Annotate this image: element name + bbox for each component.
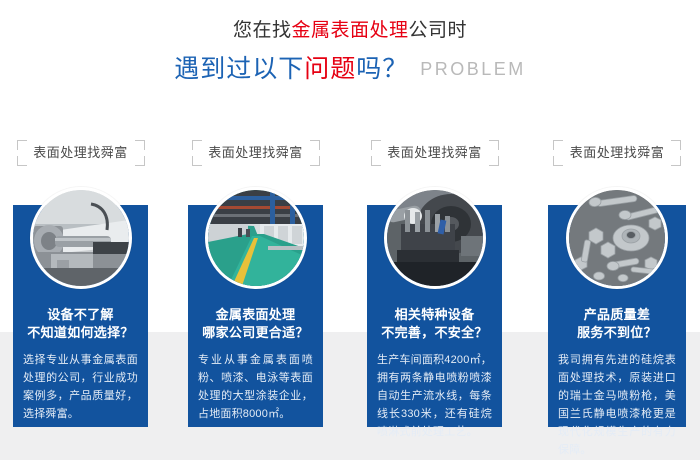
card-tag: 表面处理找舜富 xyxy=(191,137,321,169)
headline2-highlight: 问题 xyxy=(304,55,356,83)
card-photo xyxy=(384,187,486,289)
card-tag: 表面处理找舜富 xyxy=(370,137,500,169)
card-body: 生产车间面积4200㎡，拥有两条静电喷粉喷漆自动生产流水线，每条线长330米，还… xyxy=(377,351,492,441)
lathe-machining-photo xyxy=(33,190,129,286)
problem-cards: 表面处理找舜富 设备不了解 不知道如何选择？ 选择专业从事金属表面处理的公司，行… xyxy=(0,137,700,437)
problem-card[interactable]: 表面处理找舜富 设备不了解 不知道如何选择？ 选择专业从事金属表面处理的公司，行… xyxy=(13,137,148,437)
card-title-line2: 不知道如何选择？ xyxy=(17,324,144,342)
card-body: 选择专业从事金属表面处理的公司，行业成功案例多，产品质量好，选择舜富。 xyxy=(23,351,138,423)
section-header: 您在找金属表面处理公司时 遇到过以下问题吗？PROBLEM xyxy=(0,18,700,86)
card-tag-label: 表面处理找舜富 xyxy=(552,137,682,169)
headline-secondary: 遇到过以下问题吗？PROBLEM xyxy=(0,53,700,86)
headline2-part1: 遇到过以下 xyxy=(174,55,304,83)
problem-card[interactable]: 表面处理找舜富 相关特种设备 不完善，不安全？ 生产车间面积4200㎡，拥有两条… xyxy=(367,137,502,437)
problem-card[interactable]: 表面处理找舜富 产品质量差 服务不到位？ 我司拥有先进的硅烷表面处理技术，原装进… xyxy=(548,137,686,437)
card-body: 我司拥有先进的硅烷表面处理技术，原装进口的瑞士金马喷粉枪，美国兰氏静电喷漆枪更是… xyxy=(558,351,676,459)
card-title-line2: 不完善，不安全？ xyxy=(371,324,498,342)
card-tag: 表面处理找舜富 xyxy=(552,137,682,169)
card-photo xyxy=(566,187,668,289)
headline-highlight: 金属表面处理 xyxy=(291,20,408,41)
factory-corridor-photo xyxy=(208,190,304,286)
card-title-line1: 产品质量差 xyxy=(584,307,651,322)
card-title: 产品质量差 服务不到位？ xyxy=(552,306,682,342)
card-title: 设备不了解 不知道如何选择？ xyxy=(17,306,144,342)
headline2-part2: 吗？ xyxy=(356,55,408,83)
headline-prefix: 您在找 xyxy=(233,20,292,41)
card-tag-label: 表面处理找舜富 xyxy=(191,137,321,169)
headline-primary: 您在找金属表面处理公司时 xyxy=(0,18,700,44)
card-title-line2: 服务不到位？ xyxy=(552,324,682,342)
card-title: 金属表面处理 哪家公司更合适？ xyxy=(192,306,319,342)
card-tag-label: 表面处理找舜富 xyxy=(370,137,500,169)
headline-english-label: PROBLEM xyxy=(420,59,526,79)
headline-suffix: 公司时 xyxy=(409,20,468,41)
problem-card[interactable]: 表面处理找舜富 金属表面处理 哪家公司更合适？ 专业从事金属表面喷粉、喷漆、电泳… xyxy=(188,137,323,437)
card-title-line1: 设备不了解 xyxy=(47,307,114,322)
card-title-line1: 相关特种设备 xyxy=(395,307,475,322)
card-title-line2: 哪家公司更合适？ xyxy=(192,324,319,342)
tooling-equipment-photo xyxy=(387,190,483,286)
card-title-line1: 金属表面处理 xyxy=(216,307,296,322)
card-title: 相关特种设备 不完善，不安全？ xyxy=(371,306,498,342)
card-photo xyxy=(30,187,132,289)
card-tag-label: 表面处理找舜富 xyxy=(16,137,146,169)
problem-section: 您在找金属表面处理公司时 遇到过以下问题吗？PROBLEM 表面处理找舜富 设备… xyxy=(0,0,700,460)
card-photo xyxy=(205,187,307,289)
fasteners-parts-photo xyxy=(569,190,665,286)
card-body: 专业从事金属表面喷粉、喷漆、电泳等表面处理的大型涂装企业，占地面积8000㎡。 xyxy=(198,351,313,423)
card-tag: 表面处理找舜富 xyxy=(16,137,146,169)
